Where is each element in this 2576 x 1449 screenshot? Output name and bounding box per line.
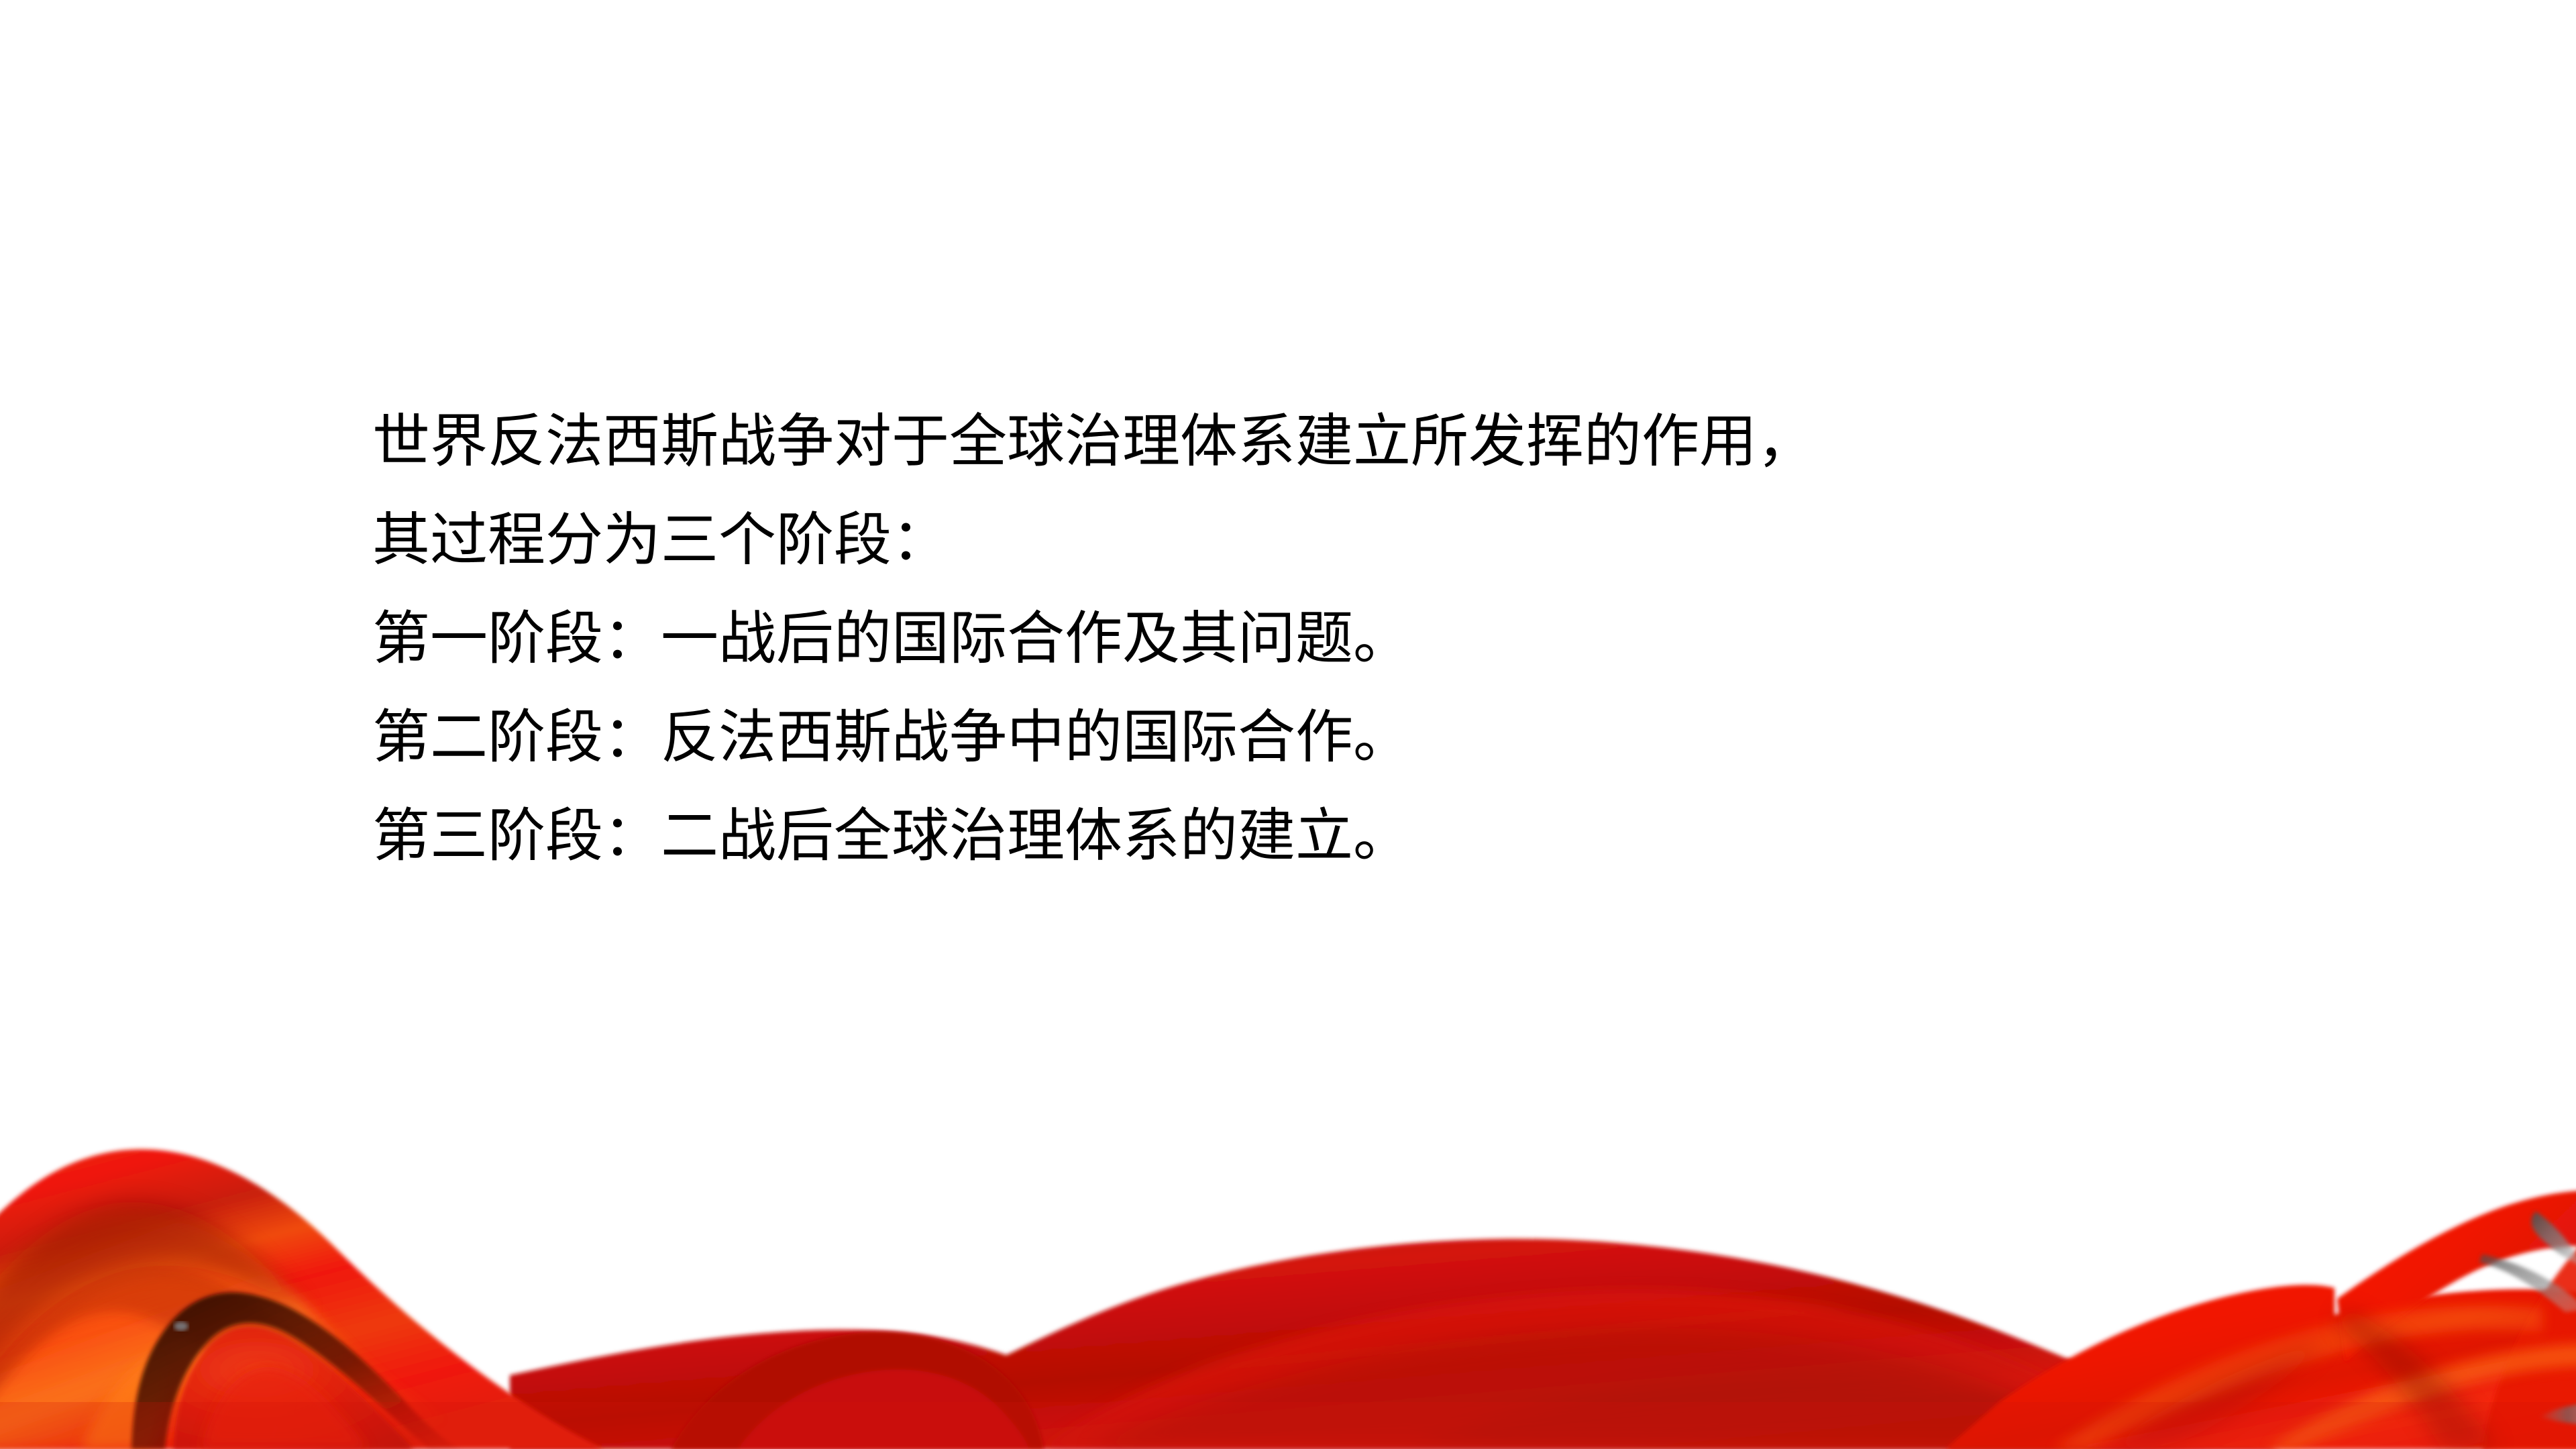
text-line-2: 其过程分为三个阶段： — [372, 491, 2385, 590]
ribbon-bottom-wash — [0, 1402, 2576, 1449]
text-line-4: 第二阶段：反法西斯战争中的国际合作。 — [372, 688, 2385, 787]
red-silk-ribbon-decoration — [0, 1087, 2576, 1449]
text-line-5: 第三阶段：二战后全球治理体系的建立。 — [372, 787, 2385, 885]
text-line-1: 世界反法西斯战争对于全球治理体系建立所发挥的作用， — [372, 392, 2385, 491]
presentation-slide: 世界反法西斯战争对于全球治理体系建立所发挥的作用， 其过程分为三个阶段： 第一阶… — [0, 0, 2576, 1449]
ribbon-svg — [0, 1087, 2576, 1449]
slide-body-text: 世界反法西斯战争对于全球治理体系建立所发挥的作用， 其过程分为三个阶段： 第一阶… — [372, 392, 2385, 885]
text-line-3: 第一阶段：一战后的国际合作及其问题。 — [372, 590, 2385, 688]
